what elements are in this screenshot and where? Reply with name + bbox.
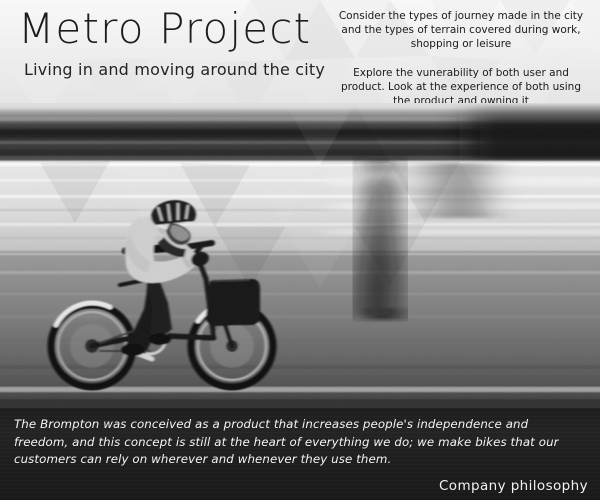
brief-paragraph-vulnerability: Explore the vunerability of both user an… <box>336 66 586 108</box>
quote-band: The Brompton was conceived as a product … <box>0 408 600 500</box>
brief-paragraph-journey: Consider the types of journey made in th… <box>336 9 586 51</box>
quote-attribution: Company philosophy <box>439 478 588 494</box>
metro-project-poster: Metro Project Living in and moving aroun… <box>0 0 600 500</box>
company-quote: The Brompton was conceived as a product … <box>14 416 586 469</box>
page-title: Metro Project <box>18 4 311 53</box>
poster-header: Metro Project Living in and moving aroun… <box>0 0 600 118</box>
page-subtitle: Living in and moving around the city <box>24 60 325 79</box>
cyclist-photograph <box>0 103 600 411</box>
cyclist-photograph-image <box>0 103 600 411</box>
